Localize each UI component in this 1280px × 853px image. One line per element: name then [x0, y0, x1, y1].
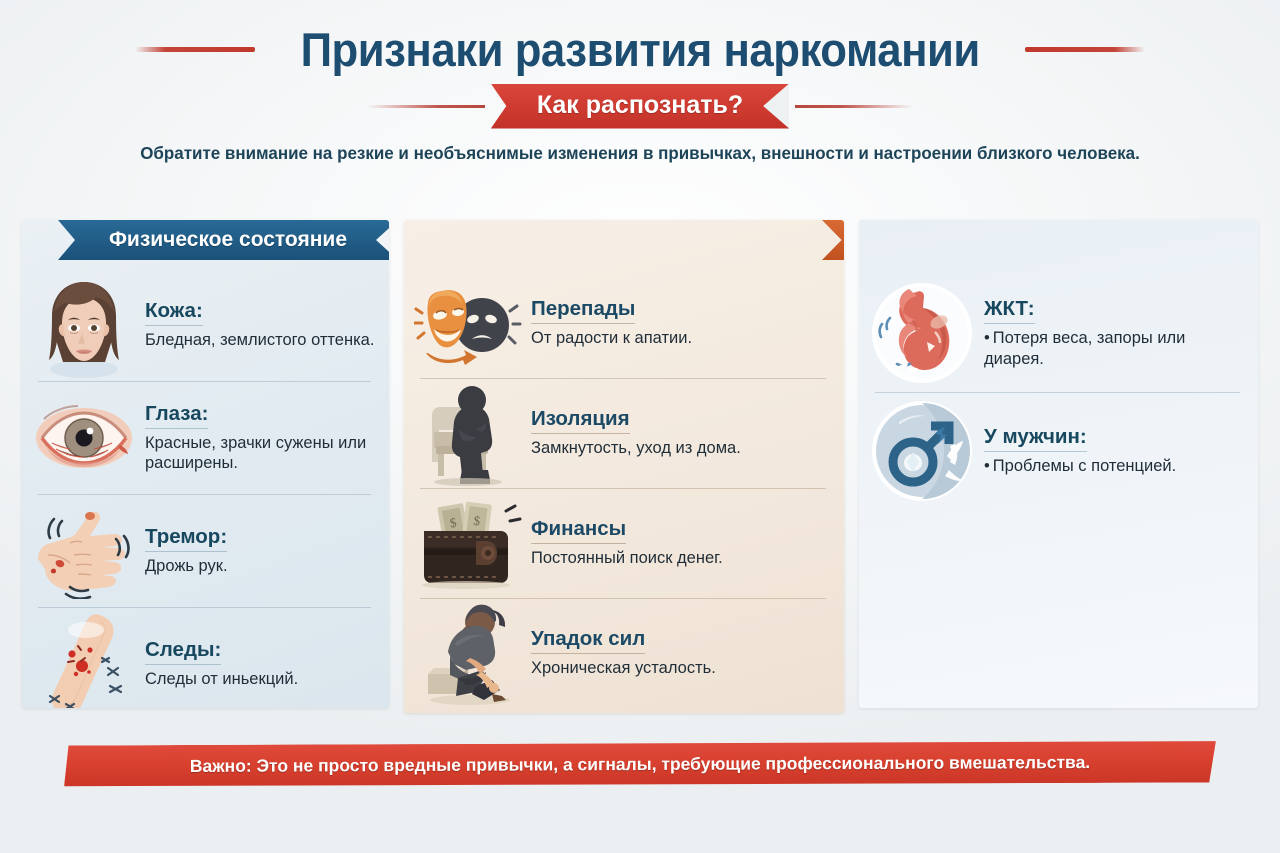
subtitle-rule-left-icon — [367, 105, 485, 108]
panel-physical-body: Кожа: Бледная, землистого оттенка. — [22, 260, 389, 708]
item-title: У мужчин: — [984, 425, 1087, 452]
list-item: Следы: Следы от иньекций. — [32, 607, 375, 708]
list-item: Тремор: Дрожь рук. — [32, 494, 375, 607]
bullet-icon: • — [984, 457, 990, 475]
item-desc: Хроническая усталость. — [531, 658, 830, 678]
intro-text: Обратите внимание на резкие и необъясним… — [19, 143, 1261, 164]
panel-physical: Кожа: Бледная, землистого оттенка. — [22, 220, 389, 708]
list-item: $ $ — [414, 488, 830, 598]
item-desc: Замкнутость, уход из дома. — [531, 438, 830, 458]
bullet-icon: • — [984, 329, 990, 347]
item-text: ЖКТ: •Потеря веса, запоры или диарея. — [984, 297, 1244, 368]
panel-behavior: Перепады От радости к апатии. — [404, 220, 844, 713]
item-desc: Следы от иньекций. — [145, 669, 375, 689]
male-symbol-icon — [869, 398, 975, 504]
subtitle-banner: Как распознать? — [491, 84, 789, 129]
item-text: Изоляция Замкнутость, уход из дома. — [531, 407, 830, 458]
item-text: Финансы Постоянный поиск денег. — [531, 517, 830, 568]
list-item: Кожа: Бледная, землистого оттенка. — [32, 268, 375, 381]
title-rule-right-icon — [1025, 47, 1145, 52]
item-title: Упадок сил — [531, 627, 645, 654]
item-desc: •Потеря веса, запоры или диарея. — [984, 328, 1244, 368]
title-rule-left-icon — [135, 47, 255, 52]
item-desc-text: Проблемы с потенцией. — [993, 457, 1176, 475]
wallet-money-icon: $ $ — [414, 497, 522, 589]
page-header: Признаки развития наркомании Как распозн… — [0, 0, 1280, 140]
footer-banner: Важно: Это не просто вредные привычки, а… — [64, 740, 1216, 787]
columns-area: Кожа: Бледная, землистого оттенка. — [0, 203, 1280, 713]
item-desc: От радости к апатии. — [531, 328, 830, 348]
item-desc-text: Потеря веса, запоры или диарея. — [984, 329, 1185, 367]
item-title: Тремор: — [145, 525, 227, 552]
list-item: У мужчин: •Проблемы с потенцией. — [869, 392, 1244, 510]
item-title: Глаза: — [145, 402, 208, 429]
item-text: Глаза: Красные, зрачки сужены или расшир… — [145, 402, 375, 473]
panel-heading-physical: Физическое состояние — [58, 220, 389, 260]
subtitle-row: Как распознать? — [0, 84, 1280, 128]
item-text: Перепады От радости к апатии. — [531, 297, 830, 348]
item-desc: Бледная, землистого оттенка. — [145, 330, 375, 350]
item-text: У мужчин: •Проблемы с потенцией. — [984, 425, 1244, 476]
item-desc: Дрожь рук. — [145, 556, 375, 576]
subtitle-rule-right-icon — [795, 105, 913, 108]
panel-organism: ЖКТ: •Потеря веса, запоры или диарея. — [859, 220, 1258, 708]
panel-organism-body: ЖКТ: •Потеря веса, запоры или диарея. — [859, 260, 1258, 708]
red-eye-icon — [32, 397, 136, 479]
item-text: Упадок сил Хроническая усталость. — [531, 627, 830, 678]
title-row: Признаки развития наркомании — [0, 18, 1280, 80]
item-text: Кожа: Бледная, землистого оттенка. — [145, 299, 375, 350]
list-item: ЖКТ: •Потеря веса, запоры или диарея. — [869, 274, 1244, 392]
woman-face-icon — [32, 272, 136, 378]
item-title: Кожа: — [145, 299, 203, 326]
item-desc: Постоянный поиск денег. — [531, 548, 830, 568]
item-text: Тремор: Дрожь рук. — [145, 525, 375, 576]
item-desc: •Проблемы с потенцией. — [984, 456, 1244, 476]
list-item: Перепады От радости к апатии. — [414, 268, 830, 378]
item-text: Следы: Следы от иньекций. — [145, 638, 375, 689]
item-title: Перепады — [531, 297, 635, 324]
item-desc: Красные, зрачки сужены или расширены. — [145, 433, 375, 473]
theater-masks-icon — [414, 277, 522, 369]
panel-behavior-body: Перепады От радости к апатии. — [404, 260, 844, 713]
panel-heading-behavior: Поведение и Настроение — [822, 220, 844, 260]
trembling-hand-icon — [32, 503, 136, 599]
injection-marks-arm-icon — [32, 612, 136, 709]
page-title: Признаки развития наркомании — [300, 22, 979, 77]
list-item: Изоляция Замкнутость, уход из дома. — [414, 378, 830, 488]
item-title: Финансы — [531, 517, 626, 544]
exhausted-man-icon — [414, 600, 522, 706]
item-title: Изоляция — [531, 407, 630, 434]
isolated-person-icon — [414, 380, 522, 486]
item-title: Следы: — [145, 638, 221, 665]
item-title: ЖКТ: — [984, 297, 1035, 324]
list-item: Упадок сил Хроническая усталость. — [414, 598, 830, 708]
stomach-icon — [869, 280, 975, 386]
list-item: Глаза: Красные, зрачки сужены или расшир… — [32, 381, 375, 494]
